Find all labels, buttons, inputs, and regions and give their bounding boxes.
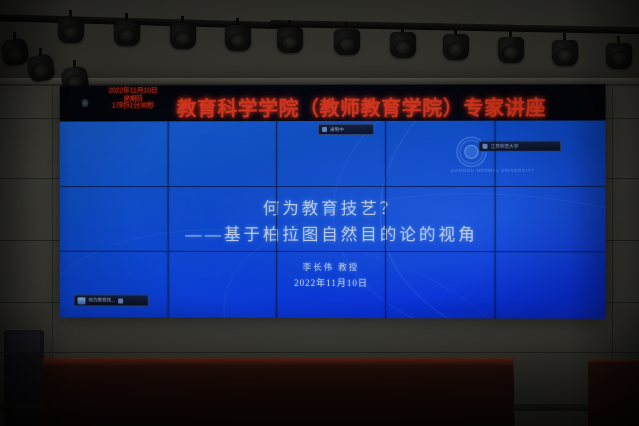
taskbar-window-button[interactable]: 何为教育技...: [74, 294, 149, 306]
spotlight-fixture: [606, 36, 632, 70]
slide-subtitle: ——基于柏拉图自然目的论的视角: [60, 221, 606, 245]
led-banner-title: 教育科学学院（教师教育学院）专家讲座: [177, 91, 546, 121]
app-icon: [482, 144, 487, 149]
spotlight-fixture: [443, 27, 469, 61]
recording-toolbar[interactable]: 录制中: [318, 124, 374, 135]
led-banner: 2022年11月10日 星期四 17时51分30秒 教育科学学院（教师教育学院）…: [60, 84, 606, 121]
panel-seam-horizontal: [60, 186, 606, 187]
banner-indicator-light: [82, 99, 89, 108]
spotlight-fixture: [334, 22, 360, 56]
panel-seam-vertical: [385, 121, 386, 318]
lecture-hall-scene: 2022年11月10日 星期四 17时51分30秒 教育科学学院（教师教育学院）…: [0, 0, 639, 426]
podium-desktop-surface: [42, 358, 513, 366]
slide-presenter: 李长伟 教授: [60, 261, 606, 274]
podium-desk: [42, 358, 515, 426]
spotlight-fixture: [390, 25, 416, 59]
slide-date: 2022年11月10日: [60, 276, 606, 290]
side-desk: [588, 362, 639, 426]
chair-backrest: [8, 330, 40, 352]
led-datetime: 2022年11月10日 星期四 17时51分30秒: [97, 87, 168, 109]
spotlight-fixture: [170, 16, 196, 50]
powerpoint-icon: [78, 297, 86, 304]
spotlight-fixture: [552, 33, 578, 67]
close-icon[interactable]: [118, 298, 123, 303]
taskbar-label: 何为教育技...: [88, 297, 115, 303]
led-video-wall[interactable]: 2022年11月10日 星期四 17时51分30秒 教育科学学院（教师教育学院）…: [60, 84, 606, 318]
slide-title: 何为教育技艺？: [60, 195, 606, 219]
spotlight-fixture: [2, 32, 28, 66]
ceiling: [0, 0, 639, 86]
spotlight-fixture: [114, 13, 140, 47]
ceiling-edge: [0, 78, 639, 84]
led-time-text: 17时51分30秒: [97, 102, 168, 110]
university-name-en: JIANGSU NORMAL UNIVERSITY: [432, 168, 553, 173]
spotlight-fixture: [498, 30, 524, 64]
logo-toolbar[interactable]: 江苏师范大学: [478, 141, 561, 152]
spotlight-fixture: [225, 18, 251, 52]
panel-seam-vertical: [495, 121, 496, 319]
presentation-slide[interactable]: JIANGSU NORMAL UNIVERSITY 何为教育技艺？ ——基于柏拉…: [60, 120, 606, 318]
led-date-text: 2022年11月10日: [97, 87, 168, 95]
record-icon: [322, 127, 327, 132]
spotlight-fixture: [58, 10, 84, 44]
spotlight-fixture: [28, 48, 54, 82]
recording-toolbar-label: 录制中: [330, 126, 344, 132]
panel-seam-vertical: [168, 121, 169, 317]
spotlight-fixture: [277, 20, 303, 54]
panel-seam-vertical: [276, 121, 277, 318]
